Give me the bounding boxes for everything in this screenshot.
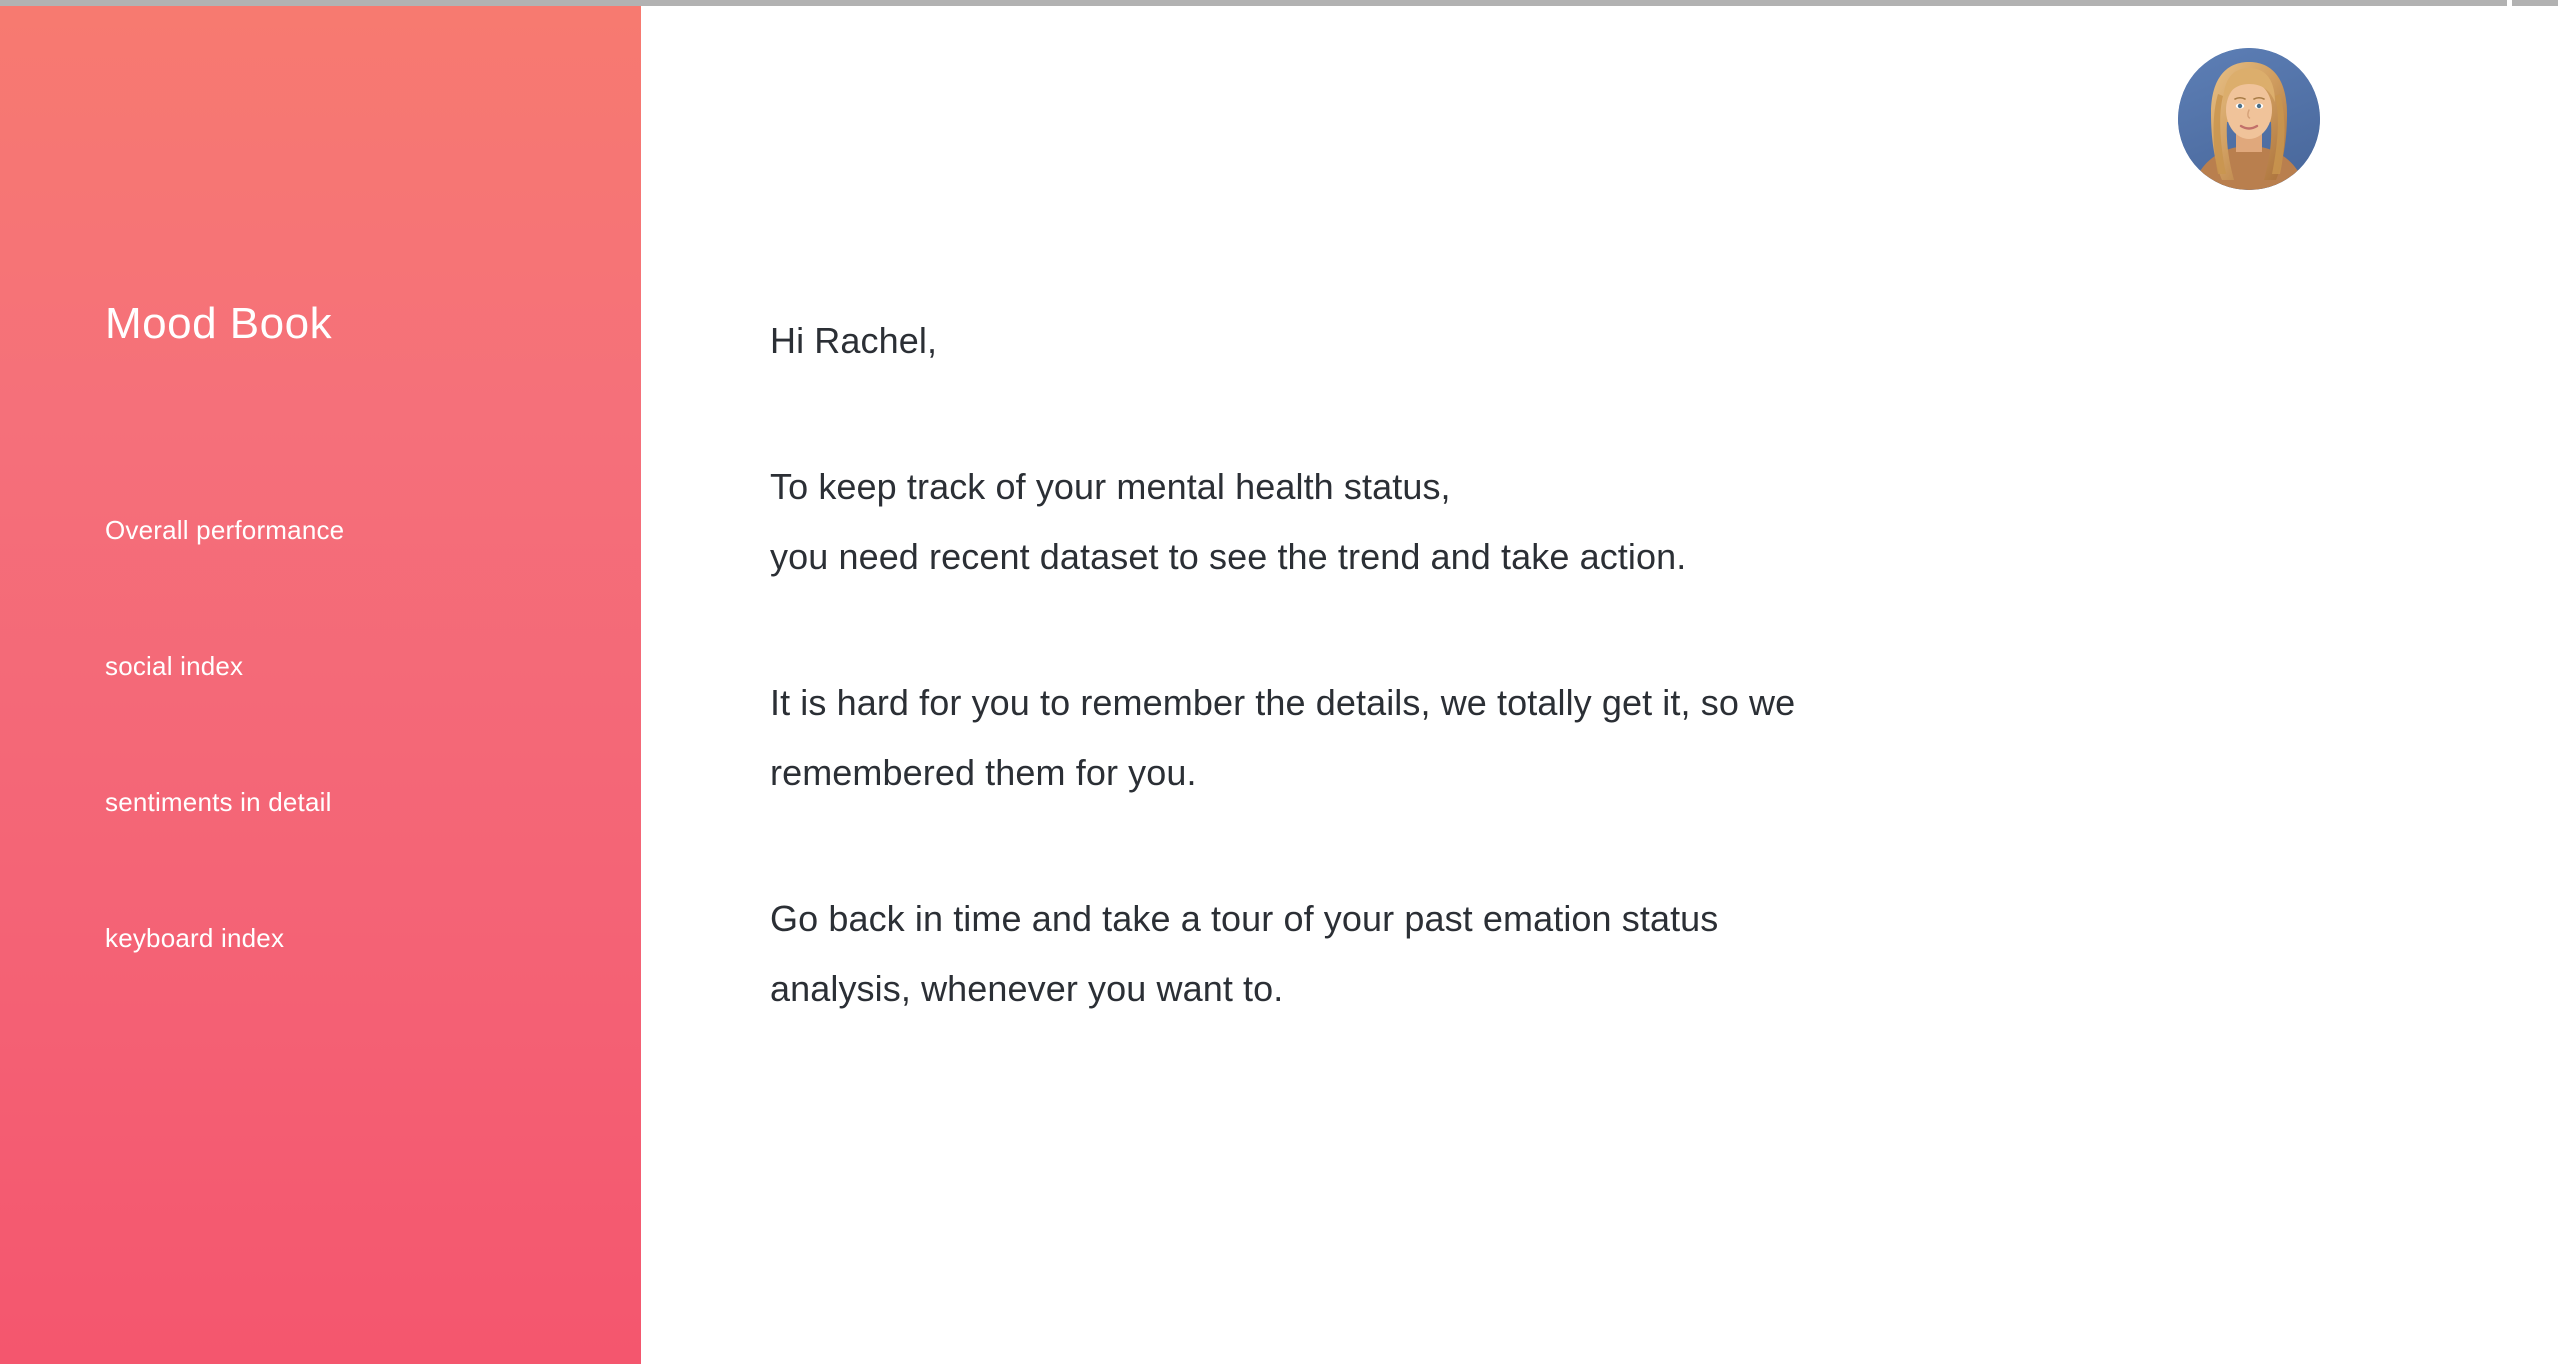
paragraph-greeting: Hi Rachel, [770, 306, 2270, 376]
text-line: you need recent dataset to see the trend… [770, 522, 2270, 592]
sidebar-item-keyboard-index[interactable]: keyboard index [105, 925, 585, 951]
sidebar-item-overall-performance[interactable]: Overall performance [105, 517, 585, 543]
avatar-photo-icon [2178, 48, 2320, 190]
text-line: It is hard for you to remember the detai… [770, 668, 2270, 738]
main-content: Hi Rachel, To keep track of your mental … [641, 6, 2558, 1364]
app-window: Mood Book Overall performance social ind… [0, 0, 2558, 1364]
paragraph-3: Go back in time and take a tour of your … [770, 884, 2270, 1024]
letter-body: Hi Rachel, To keep track of your mental … [770, 306, 2270, 1024]
text-line: To keep track of your mental health stat… [770, 452, 2270, 522]
sidebar-nav: Overall performance social index sentime… [105, 517, 585, 951]
paragraph-2: It is hard for you to remember the detai… [770, 668, 2270, 808]
sidebar-item-social-index[interactable]: social index [105, 653, 585, 679]
sidebar: Mood Book Overall performance social ind… [0, 6, 641, 1364]
paragraph-1: To keep track of your mental health stat… [770, 452, 2270, 592]
text-line: Go back in time and take a tour of your … [770, 884, 2270, 954]
text-line: analysis, whenever you want to. [770, 954, 2270, 1024]
sidebar-item-sentiments-in-detail[interactable]: sentiments in detail [105, 789, 585, 815]
text-line: Hi Rachel, [770, 306, 2270, 376]
page-title: Mood Book [105, 302, 332, 346]
text-line: remembered them for you. [770, 738, 2270, 808]
avatar[interactable] [2178, 48, 2320, 190]
